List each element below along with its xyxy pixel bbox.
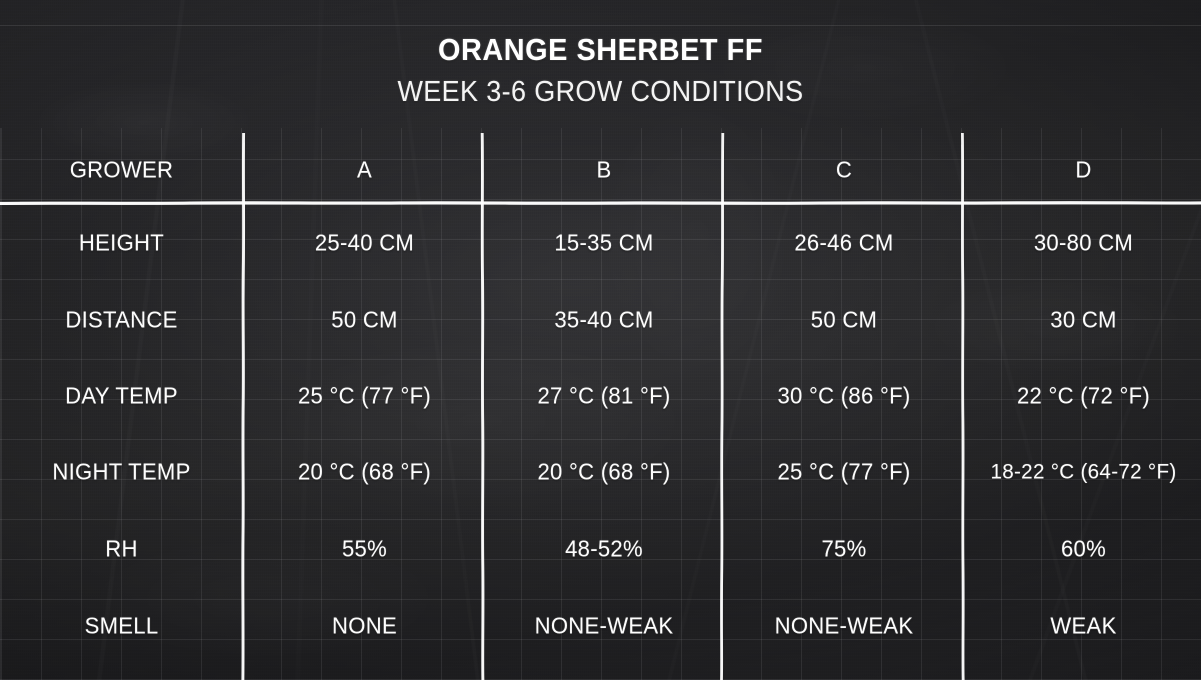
column-divider-1 [239,133,248,680]
header-divider-line [0,200,1201,206]
table-cell: 50 CM [252,307,478,334]
column-header-d: D [971,157,1197,184]
table-cell: 20 °C (68 °F) [252,459,478,486]
table-cell: NONE-WEAK [491,613,718,640]
column-divider-3 [718,133,727,680]
table-cell: 30-80 CM [971,230,1197,257]
table-cell: 15-35 CM [491,230,718,257]
column-header-b: B [491,157,718,184]
row-label-rh: RH [5,536,238,563]
top-rule-line [0,25,1201,26]
row-label-night-temp: NIGHT TEMP [5,459,238,486]
column-divider-2 [478,133,487,680]
table-cell: 60% [971,536,1197,563]
table-cell: 75% [731,536,958,563]
row-label-distance: DISTANCE [5,307,238,334]
table-cell: 22 °C (72 °F) [971,383,1197,410]
table-cell: NONE [252,613,478,640]
table-cell: 30 °C (86 °F) [731,383,958,410]
page-subtitle: WEEK 3-6 GROW CONDITIONS [42,74,1159,110]
table-cell: NONE-WEAK [731,613,958,640]
chalkboard-table-slide: ORANGE SHERBET FF WEEK 3-6 GROW CONDITIO… [0,0,1201,680]
table-cell: 30 CM [971,307,1197,334]
row-label-height: HEIGHT [5,230,238,257]
column-divider-4 [958,133,967,680]
table-cell: 25 °C (77 °F) [252,383,478,410]
table-cell: 25 °C (77 °F) [731,459,958,486]
row-label-day-temp: DAY TEMP [5,383,238,410]
table-cell: 48-52% [491,536,718,563]
title-block: ORANGE SHERBET FF WEEK 3-6 GROW CONDITIO… [0,32,1201,110]
row-label-smell: SMELL [5,613,238,640]
table-cell: 25-40 CM [252,230,478,257]
table-cell: 26-46 CM [731,230,958,257]
table-cell: 55% [252,536,478,563]
table-cell: WEAK [971,613,1197,640]
table-corner-label: GROWER [5,157,238,184]
column-header-a: A [252,157,478,184]
page-title: ORANGE SHERBET FF [42,32,1159,68]
table-cell: 35-40 CM [491,307,718,334]
table-cell: 20 °C (68 °F) [491,459,718,486]
column-header-c: C [731,157,958,184]
table-cell: 50 CM [731,307,958,334]
table-cell: 18-22 °C (64-72 °F) [971,460,1197,485]
table-cell: 27 °C (81 °F) [491,383,718,410]
